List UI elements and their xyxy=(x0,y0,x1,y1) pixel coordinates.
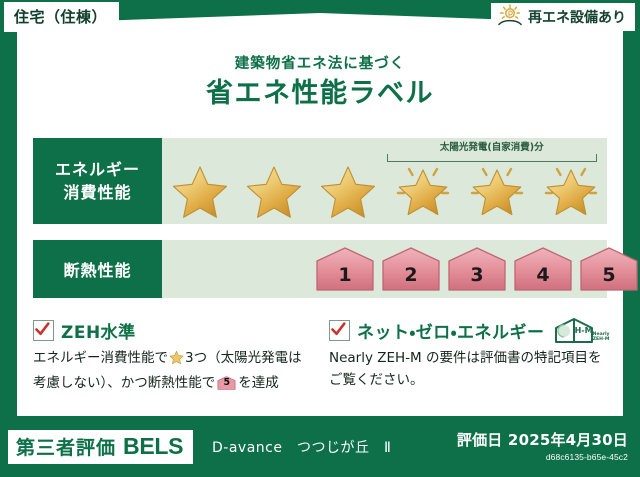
star-6-solar xyxy=(541,163,601,221)
insulation-level-2-number: 2 xyxy=(380,264,442,286)
check-icon xyxy=(33,320,54,341)
bels-badge-en: BELS xyxy=(123,433,183,460)
footer-bar: 第三者評価 BELS D-avance つつじが丘 Ⅱ 評価日 2025年4月3… xyxy=(0,421,640,477)
evaluation-date: 評価日 2025年4月30日 xyxy=(457,429,628,450)
house-type-tag: 住宅（住棟） xyxy=(4,2,119,32)
solar-bracket-label: 太陽光発電(自家消費)分 xyxy=(385,139,600,153)
zeh-m-logo-caption: Nearly ZEH-M xyxy=(593,332,610,343)
energy-performance-row: エネルギー 消費性能 太陽光発電(自家消費)分 xyxy=(33,138,607,224)
insulation-level-4-number: 4 xyxy=(512,264,574,286)
note-zeh-body-post: を達成 xyxy=(238,375,279,391)
renewable-badge-label: 再エネ設備あり xyxy=(528,7,626,27)
star-rating xyxy=(170,162,601,221)
note-nze-title: ネット・ゼロ・エネルギー xyxy=(357,318,545,343)
star-3 xyxy=(318,163,378,221)
check-icon xyxy=(329,320,350,341)
solar-bracket-line xyxy=(387,154,598,162)
sun-icon xyxy=(497,4,523,30)
note-zeh-header: ZEH水準 xyxy=(33,318,311,342)
insulation-performance-row: 断熱性能 1 xyxy=(33,240,607,298)
insulation-performance-value: 1 2 xyxy=(162,240,607,298)
inline-star-icon xyxy=(169,350,184,373)
zeh-m-logo-icon: H-M Nearly ZEH-M xyxy=(554,317,610,344)
zeh-m-logo-hm: H-M xyxy=(575,326,593,335)
energy-performance-value: 太陽光発電(自家消費)分 xyxy=(162,138,607,224)
insulation-level-5: 5 xyxy=(578,245,640,293)
insulation-level-1: 1 xyxy=(314,245,376,293)
insulation-level-3: 3 xyxy=(446,245,508,293)
note-nze-body: Nearly ZEH-M の要件は評価書の特記項目をご覧ください。 xyxy=(329,348,607,392)
evaluation-info: 評価日 2025年4月30日 d68c6135-b65e-45c2 xyxy=(457,429,628,462)
insulation-level-5-number: 5 xyxy=(578,264,640,286)
building-name: D-avance つつじが丘 Ⅱ xyxy=(212,437,391,457)
renewable-equipment-badge: 再エネ設備あり xyxy=(491,3,635,31)
bels-badge: 第三者評価 BELS xyxy=(8,430,193,464)
title-main: 省エネ性能ラベル xyxy=(0,78,640,109)
notes-section: ZEH水準 エネルギー消費性能で3つ（太陽光発電は考慮しない）、かつ断熱性能で5… xyxy=(33,318,611,395)
insulation-level-3-number: 3 xyxy=(446,264,508,286)
star-5-solar xyxy=(467,163,527,221)
title-subtitle: 建築物省エネ法に基づく xyxy=(0,56,640,73)
star-1 xyxy=(170,163,230,221)
star-2 xyxy=(244,163,304,221)
insulation-level-2: 2 xyxy=(380,245,442,293)
note-zeh-body-pre: エネルギー消費性能で xyxy=(33,350,168,366)
note-net-zero-energy: ネット・ゼロ・エネルギー H-M Nearly ZEH-M Nearly ZEH… xyxy=(329,318,607,395)
energy-performance-label: エネルギー 消費性能 xyxy=(33,138,162,224)
note-nze-header: ネット・ゼロ・エネルギー H-M Nearly ZEH-M xyxy=(329,318,607,342)
solar-generation-bracket: 太陽光発電(自家消費)分 xyxy=(385,140,600,162)
page-title: 建築物省エネ法に基づく 省エネ性能ラベル xyxy=(0,56,640,109)
inline-house-badge-icon: 5 xyxy=(217,375,236,391)
bels-badge-jp: 第三者評価 xyxy=(16,433,116,460)
star-4-solar xyxy=(393,163,453,221)
insulation-level-4: 4 xyxy=(512,245,574,293)
energy-label-card: 住宅（住棟） 再エネ設備あり 建築物省エネ法に基づく xyxy=(0,0,640,477)
inline-house-badge-number: 5 xyxy=(217,375,236,390)
insulation-level-scale: 1 2 xyxy=(170,244,599,294)
note-zeh-body: エネルギー消費性能で3つ（太陽光発電は考慮しない）、かつ断熱性能で5を達成 xyxy=(33,348,311,395)
evaluation-id: d68c6135-b65e-45c2 xyxy=(457,452,628,462)
insulation-level-1-number: 1 xyxy=(314,264,376,286)
insulation-performance-label: 断熱性能 xyxy=(33,240,162,298)
note-zeh-standard: ZEH水準 エネルギー消費性能で3つ（太陽光発電は考慮しない）、かつ断熱性能で5… xyxy=(33,318,311,395)
note-zeh-title: ZEH水準 xyxy=(61,318,136,343)
